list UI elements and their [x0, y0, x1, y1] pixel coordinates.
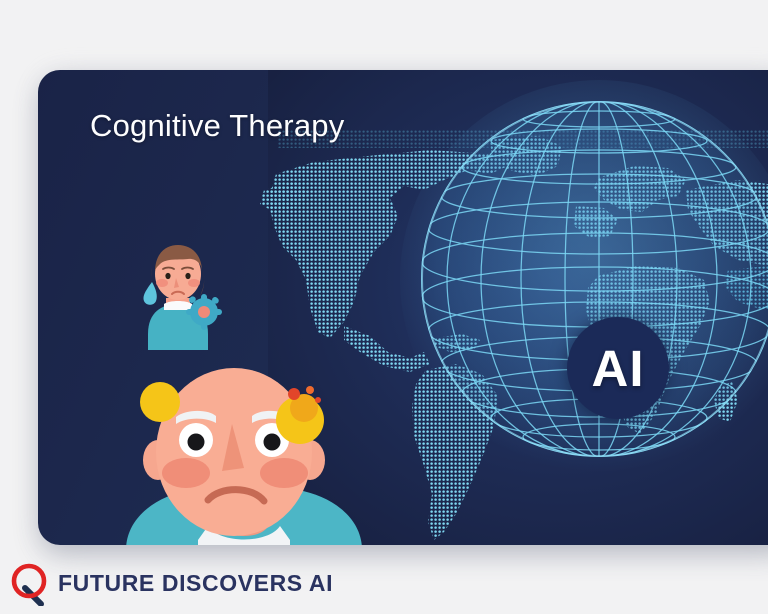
screenshot-root: Cognitive Therapy: [0, 0, 768, 614]
ai-badge: AI: [567, 317, 669, 419]
magnifying-glass-icon: [8, 560, 54, 606]
hero-card: Cognitive Therapy: [38, 70, 768, 545]
brand-logo[interactable]: FUTURE DISCOVERS AI: [8, 560, 333, 606]
illustration-crying-child: [122, 238, 234, 350]
wireframe-globe: [400, 80, 768, 478]
brand-logo-text: FUTURE DISCOVERS AI: [58, 572, 333, 595]
illustration-sad-patient: [124, 368, 364, 545]
card-headline: Cognitive Therapy: [90, 108, 344, 144]
ai-badge-label: AI: [592, 339, 645, 398]
